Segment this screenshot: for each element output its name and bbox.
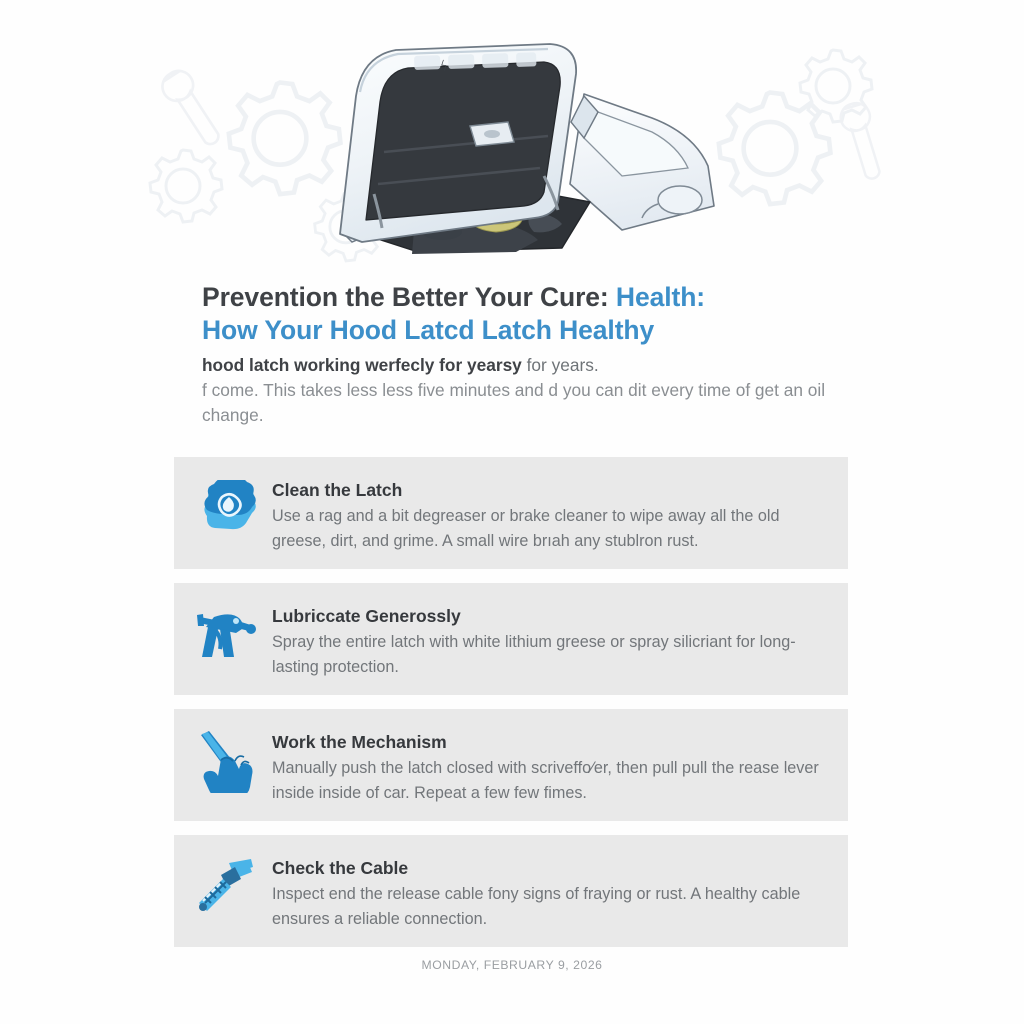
step-card-text: Check the Cable Inspect end the release … xyxy=(272,851,830,931)
intro-bold-tail: for years. xyxy=(527,355,599,375)
step-card[interactable]: Lubriccate Generossly Spray the entire l… xyxy=(174,583,848,695)
step-card[interactable]: Work the Mechanism Manually push the lat… xyxy=(174,709,848,821)
step-card-text: Clean the Latch Use a rag and a bit degr… xyxy=(272,473,830,553)
step-card-description: Spray the entire latch with white lithiu… xyxy=(272,630,830,679)
page-title: Prevention the Better Your Cure: Health: xyxy=(202,281,852,314)
step-card-title: Lubriccate Generossly xyxy=(272,605,830,627)
step-card-title: Check the Cable xyxy=(272,857,830,879)
title-line1-blue: Health: xyxy=(616,282,705,312)
pointing-hand-icon xyxy=(190,725,262,797)
open-hood-car-illustration: ϟ xyxy=(322,34,722,264)
step-card[interactable]: Check the Cable Inspect end the release … xyxy=(174,835,848,947)
spray-gun-icon xyxy=(190,599,262,671)
headline-block: Prevention the Better Your Cure: Health:… xyxy=(202,281,852,428)
footer-date: MONDAY, FEBRUARY 9, 2026 xyxy=(0,958,1024,972)
intro-bold-text: hood latch working werfecly for yearsy xyxy=(202,355,522,375)
step-card-title: Work the Mechanism xyxy=(272,731,830,753)
sponge-icon xyxy=(190,473,262,545)
title-line2: How Your Hood Latcd Latch Healthy xyxy=(202,314,852,347)
wrench-outline xyxy=(152,68,230,146)
step-card-text: Work the Mechanism Manually push the lat… xyxy=(272,725,830,805)
cable-icon xyxy=(190,851,262,923)
infographic-page: ϟ Prevention the Better Your Cure: Healt… xyxy=(0,0,1024,1024)
intro-paragraph: f come. This takes less less five minute… xyxy=(202,378,852,428)
step-card-description: Use a rag and a bit degreaser or brake c… xyxy=(272,504,830,553)
step-card-description: Manually push the latch closed with scri… xyxy=(272,756,830,805)
gear-outline xyxy=(150,150,222,222)
hero-illustration: ϟ xyxy=(0,0,1024,275)
gear-outline xyxy=(719,93,831,205)
steps-list: Clean the Latch Use a rag and a bit degr… xyxy=(174,457,848,961)
step-card-title: Clean the Latch xyxy=(272,479,830,501)
step-card-description: Inspect end the release cable fony signs… xyxy=(272,882,830,931)
title-line1-dark: Prevention the Better Your Cure: xyxy=(202,282,609,312)
intro-bold-line: hood latch working werfecly for yearsy f… xyxy=(202,353,852,377)
step-card-text: Lubriccate Generossly Spray the entire l… xyxy=(272,599,830,679)
step-card[interactable]: Clean the Latch Use a rag and a bit degr… xyxy=(174,457,848,569)
gear-outline xyxy=(800,50,872,122)
